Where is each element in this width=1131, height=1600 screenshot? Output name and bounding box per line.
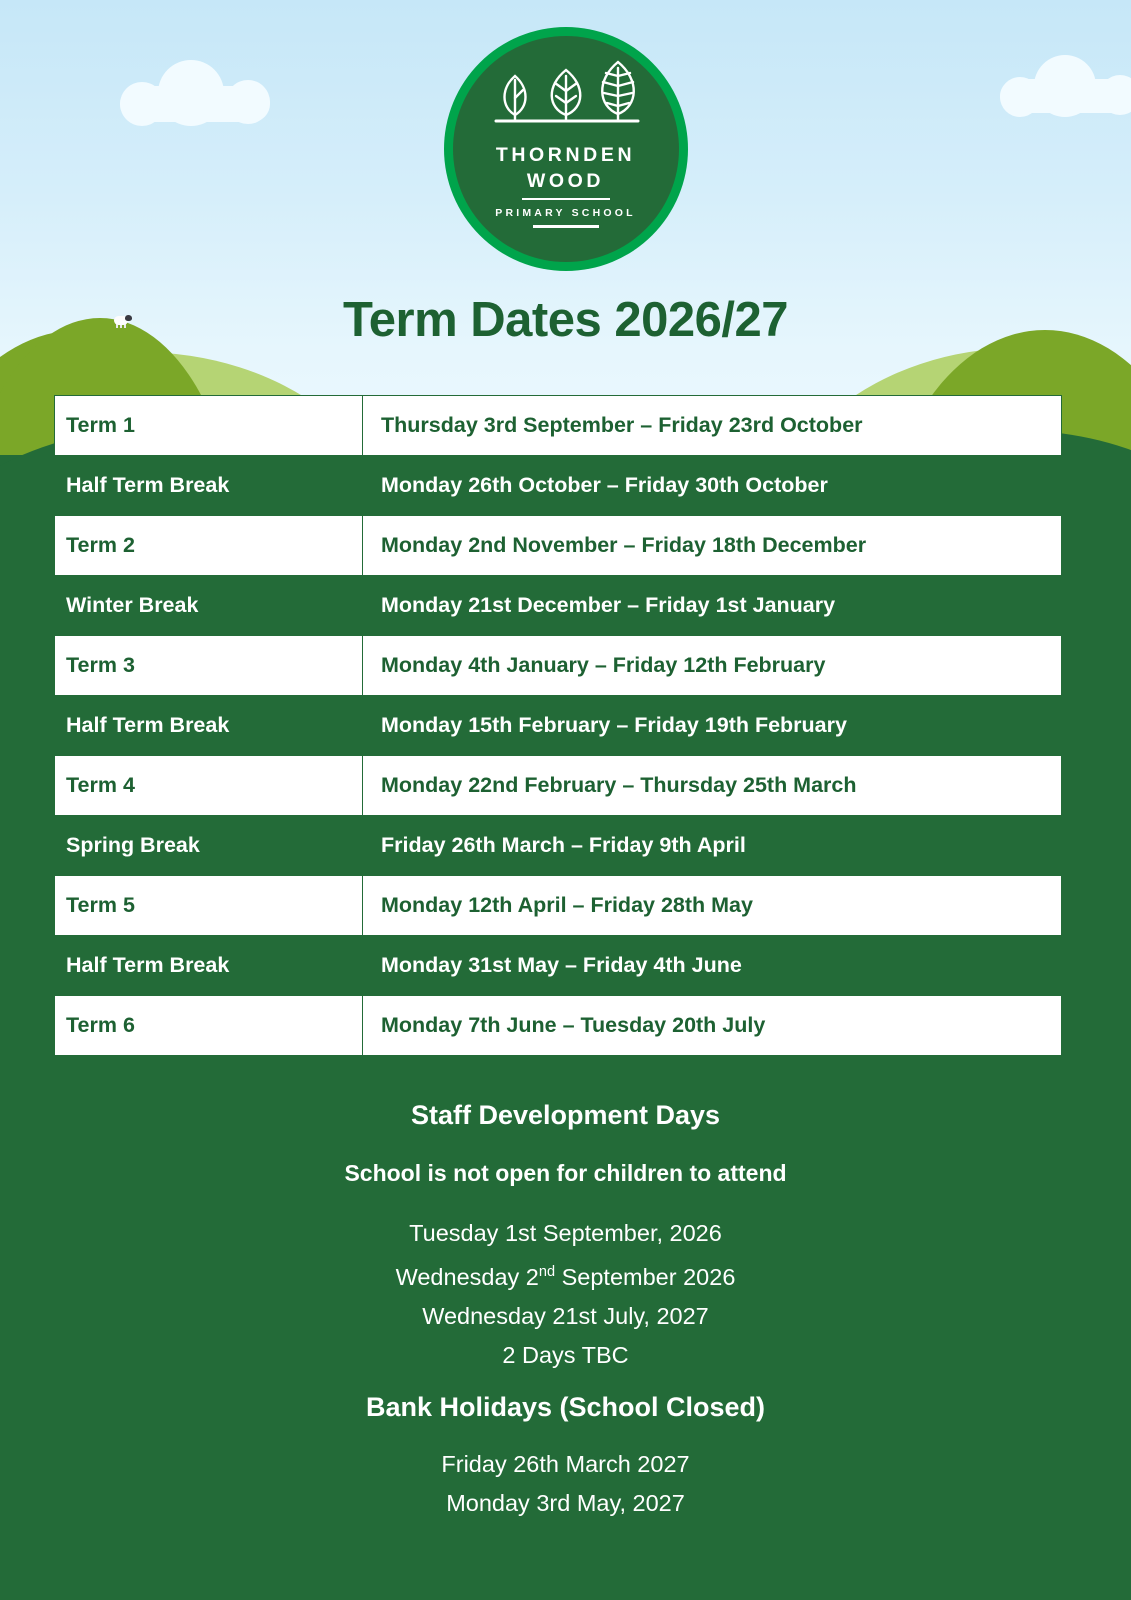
term-dates: Monday 4th January – Friday 12th Februar… xyxy=(363,636,1062,696)
logo-divider-2 xyxy=(533,225,599,227)
term-dates: Monday 12th April – Friday 28th May xyxy=(363,876,1062,936)
table-row: Half Term BreakMonday 31st May – Friday … xyxy=(55,936,1062,996)
bank-holiday-date: Friday 26th March 2027 xyxy=(0,1445,1131,1484)
term-dates: Monday 26th October – Friday 30th Octobe… xyxy=(363,456,1062,516)
staff-development-date: 2 Days TBC xyxy=(0,1336,1131,1375)
table-row: Term 6Monday 7th June – Tuesday 20th Jul… xyxy=(55,996,1062,1056)
term-label: Term 4 xyxy=(55,756,363,816)
logo-divider-1 xyxy=(522,198,610,200)
table-row: Term 2Monday 2nd November – Friday 18th … xyxy=(55,516,1062,576)
bank-holidays-heading: Bank Holidays (School Closed) xyxy=(0,1392,1131,1423)
table-row: Term 3Monday 4th January – Friday 12th F… xyxy=(55,636,1062,696)
term-dates: Monday 15th February – Friday 19th Febru… xyxy=(363,696,1062,756)
staff-development-date: Wednesday 21st July, 2027 xyxy=(0,1297,1131,1336)
term-dates: Monday 7th June – Tuesday 20th July xyxy=(363,996,1062,1056)
cloud-icon xyxy=(1000,55,1131,113)
table-row: Spring BreakFriday 26th March – Friday 9… xyxy=(55,816,1062,876)
term-label: Term 2 xyxy=(55,516,363,576)
term-label: Half Term Break xyxy=(55,696,363,756)
term-dates: Thursday 3rd September – Friday 23rd Oct… xyxy=(363,396,1062,456)
table-row: Term 5Monday 12th April – Friday 28th Ma… xyxy=(55,876,1062,936)
term-label: Half Term Break xyxy=(55,936,363,996)
logo-name-line2: WOOD xyxy=(527,170,604,193)
term-dates: Monday 21st December – Friday 1st Januar… xyxy=(363,576,1062,636)
staff-development-heading: Staff Development Days xyxy=(0,1100,1131,1131)
logo-subtitle: PRIMARY SCHOOL xyxy=(495,207,635,219)
staff-development-dates: Tuesday 1st September, 2026Wednesday 2nd… xyxy=(0,1214,1131,1375)
bank-holiday-date: Monday 3rd May, 2027 xyxy=(0,1484,1131,1523)
term-label: Term 3 xyxy=(55,636,363,696)
three-leaves-icon xyxy=(482,58,650,139)
bank-holidays-dates: Friday 26th March 2027Monday 3rd May, 20… xyxy=(0,1445,1131,1523)
table-row: Half Term BreakMonday 26th October – Fri… xyxy=(55,456,1062,516)
staff-development-date: Tuesday 1st September, 2026 xyxy=(0,1214,1131,1253)
table-row: Half Term BreakMonday 15th February – Fr… xyxy=(55,696,1062,756)
term-dates-table: Term 1Thursday 3rd September – Friday 23… xyxy=(54,395,1062,1056)
page-title: Term Dates 2026/27 xyxy=(0,292,1131,348)
term-dates-poster: THORNDEN WOOD PRIMARY SCHOOL Term Dates … xyxy=(0,0,1131,1600)
school-logo: THORNDEN WOOD PRIMARY SCHOOL xyxy=(444,27,688,271)
term-label: Term 5 xyxy=(55,876,363,936)
term-label: Spring Break xyxy=(55,816,363,876)
term-label: Term 6 xyxy=(55,996,363,1056)
term-dates: Monday 22nd February – Thursday 25th Mar… xyxy=(363,756,1062,816)
term-dates: Monday 2nd November – Friday 18th Decemb… xyxy=(363,516,1062,576)
table-row: Term 4Monday 22nd February – Thursday 25… xyxy=(55,756,1062,816)
cloud-icon xyxy=(120,60,270,122)
table-row: Term 1Thursday 3rd September – Friday 23… xyxy=(55,396,1062,456)
table-row: Winter BreakMonday 21st December – Frida… xyxy=(55,576,1062,636)
term-dates: Monday 31st May – Friday 4th June xyxy=(363,936,1062,996)
staff-development-subheading: School is not open for children to atten… xyxy=(0,1160,1131,1187)
term-label: Winter Break xyxy=(55,576,363,636)
term-dates: Friday 26th March – Friday 9th April xyxy=(363,816,1062,876)
staff-development-date: Wednesday 2nd September 2026 xyxy=(0,1253,1131,1297)
term-label: Half Term Break xyxy=(55,456,363,516)
logo-name-line1: THORNDEN xyxy=(496,144,635,167)
term-label: Term 1 xyxy=(55,396,363,456)
